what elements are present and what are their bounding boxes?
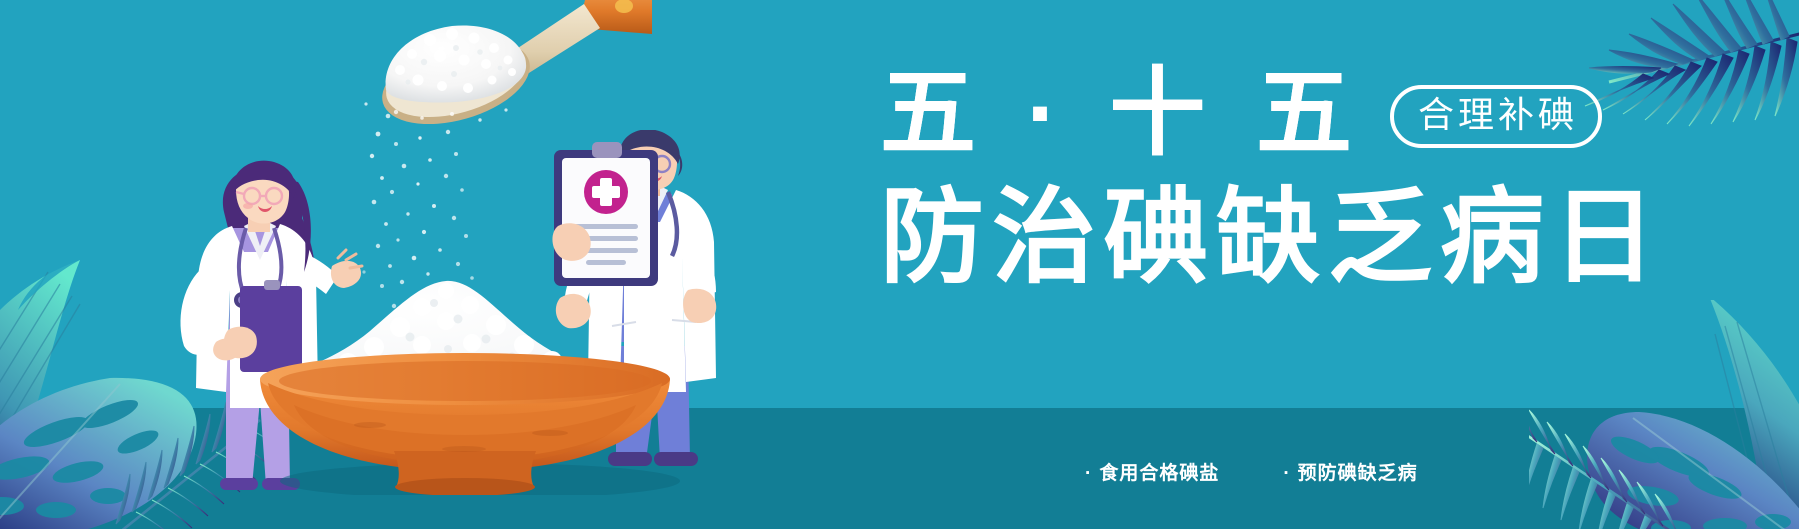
salt-bowl-illustration	[250, 275, 680, 495]
badge-slogan: 合理补碘	[1390, 85, 1602, 148]
headline-main: 防治碘缺乏病日	[880, 178, 1640, 298]
tagline-text-1: 食用合格碘盐	[1099, 463, 1219, 484]
bullet-dot-icon: ·	[1283, 463, 1290, 484]
tagline-item-1: ·食用合格碘盐	[1085, 458, 1219, 485]
headline-date: 五 · 十 五	[880, 62, 1364, 166]
tagline-row: ·食用合格碘盐 ·预防碘缺乏病	[1085, 458, 1418, 485]
tagline-item-2: ·预防碘缺乏病	[1283, 458, 1417, 485]
poster-banner: 五 · 十 五 合理补碘 防治碘缺乏病日 ·食用合格碘盐 ·预防碘缺乏病	[0, 0, 1799, 529]
tagline-text-2: 预防碘缺乏病	[1298, 463, 1418, 484]
headline-date-row: 五 · 十 五 合理补碘	[880, 62, 1640, 166]
bullet-dot-icon: ·	[1085, 463, 1092, 484]
headline-block: 五 · 十 五 合理补碘 防治碘缺乏病日	[880, 62, 1640, 298]
wooden-spoon-icon	[352, 0, 652, 124]
